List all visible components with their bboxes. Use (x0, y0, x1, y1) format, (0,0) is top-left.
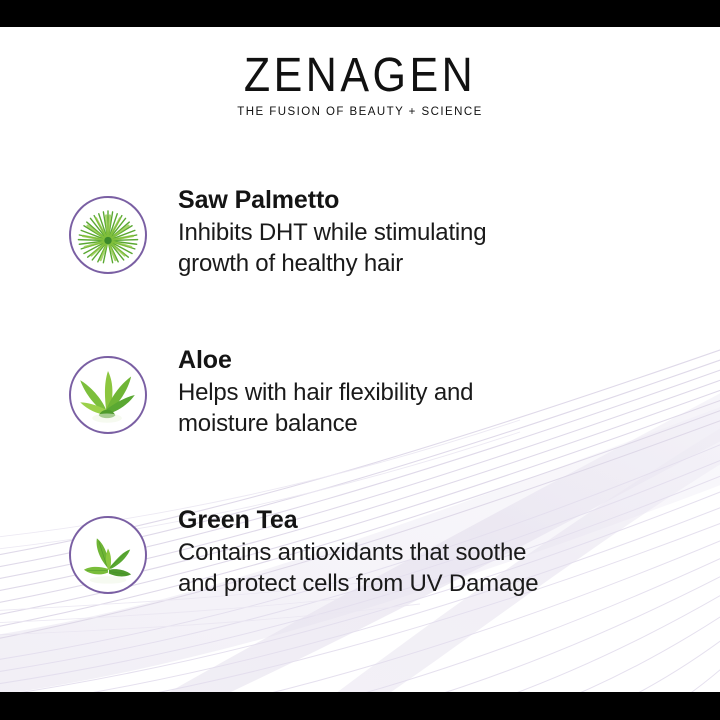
feature-item-green-tea: Green Tea Contains antioxidants that soo… (0, 506, 720, 666)
feature-text-block: Saw Palmetto Inhibits DHT while stimulat… (178, 186, 698, 279)
feature-description: Inhibits DHT while stimulating growth of… (178, 217, 698, 279)
feature-text-block: Aloe Helps with hair flexibility and moi… (178, 346, 698, 439)
aloe-icon (69, 356, 147, 434)
letterbox-bar-top (0, 0, 720, 27)
infographic-canvas: ZENAGEN THE FUSION OF BEAUTY + SCIENCE (0, 0, 720, 720)
feature-title: Aloe (178, 346, 698, 376)
brand-tagline: THE FUSION OF BEAUTY + SCIENCE (0, 107, 720, 119)
feature-description: Helps with hair flexibility and moisture… (178, 377, 698, 439)
feature-item-aloe: Aloe Helps with hair flexibility and moi… (0, 346, 720, 506)
feature-title: Saw Palmetto (178, 186, 698, 216)
letterbox-bar-bottom (0, 692, 720, 720)
feature-description: Contains antioxidants that soothe and pr… (178, 537, 698, 599)
feature-title: Green Tea (178, 506, 698, 536)
brand-wordmark: ZENAGEN (0, 52, 720, 100)
saw-palmetto-icon (69, 196, 147, 274)
feature-item-saw-palmetto: Saw Palmetto Inhibits DHT while stimulat… (0, 186, 720, 346)
brand-logo: ZENAGEN THE FUSION OF BEAUTY + SCIENCE (0, 52, 720, 119)
ingredient-feature-list: Saw Palmetto Inhibits DHT while stimulat… (0, 186, 720, 666)
green-tea-icon (69, 516, 147, 594)
feature-text-block: Green Tea Contains antioxidants that soo… (178, 506, 698, 599)
